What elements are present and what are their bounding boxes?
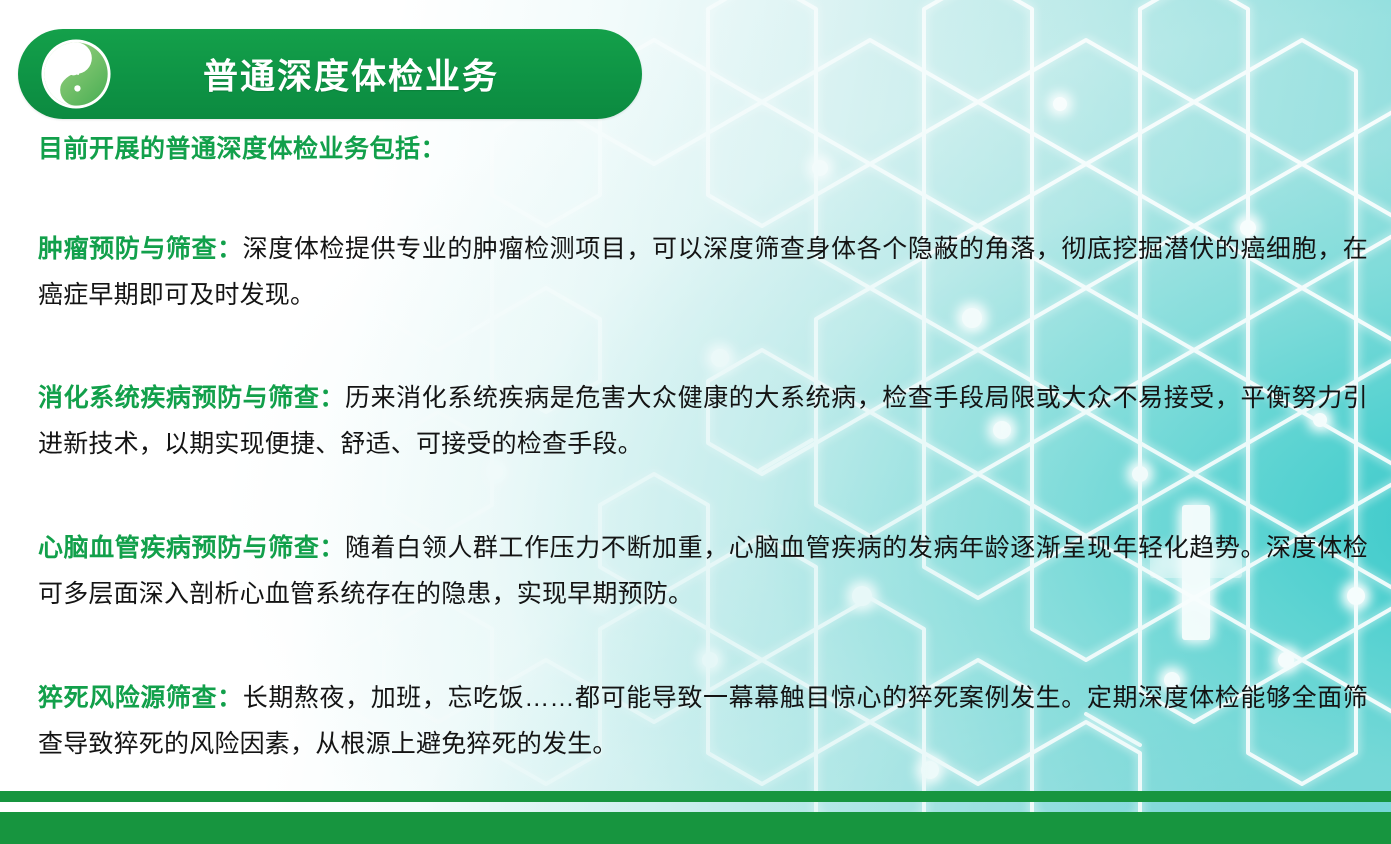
section-heading: 目前开展的普通深度体检业务包括： <box>38 134 1368 164</box>
paragraph-cardio-cerebrovascular: 心脑血管疾病预防与筛查：随着白领人群工作压力不断加重，心脑血管疾病的发病年龄逐渐… <box>38 525 1368 617</box>
slide-canvas: 普通深度体检业务 目前开展的普通深度体检业务包括： 肿瘤预防与筛查：深度体检提供… <box>0 0 1391 844</box>
paragraph-lead: 猝死风险源筛查： <box>38 684 243 712</box>
paragraph-lead: 肿瘤预防与筛查： <box>38 235 243 263</box>
content-body: 目前开展的普通深度体检业务包括： 肿瘤预防与筛查：深度体检提供专业的肿瘤检测项目… <box>38 134 1368 792</box>
paragraph-tumor: 肿瘤预防与筛查：深度体检提供专业的肿瘤检测项目，可以深度筛查身体各个隐蔽的角落，… <box>38 226 1368 318</box>
logo-taiji-icon <box>40 38 112 110</box>
paragraph-digestive: 消化系统疾病预防与筛查：历来消化系统疾病是危害大众健康的大系统病，检查手段局限或… <box>38 375 1368 467</box>
paragraph-sudden-death-risk: 猝死风险源筛查：长期熬夜，加班，忘吃饭……都可能导致一幕幕触目惊心的猝死案例发生… <box>38 675 1368 767</box>
paragraph-lead: 心脑血管疾病预防与筛查： <box>38 534 345 562</box>
header-banner: 普通深度体检业务 <box>18 29 642 119</box>
paragraph-lead: 消化系统疾病预防与筛查： <box>38 384 345 412</box>
page-title: 普通深度体检业务 <box>203 49 499 100</box>
footer-accent-stripe <box>0 791 1391 802</box>
footer-band <box>0 812 1391 844</box>
